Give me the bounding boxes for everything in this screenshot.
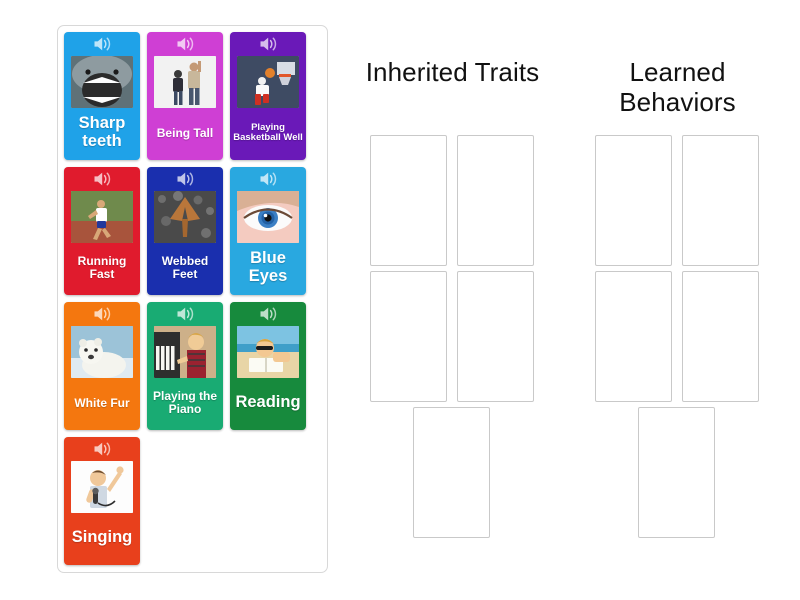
- sort-column-learned-behaviors: Learned Behaviors: [570, 25, 785, 555]
- basketball-dunk-image: [237, 56, 299, 108]
- blue-eye-closeup-image: [237, 191, 299, 243]
- speaker-icon[interactable]: [230, 32, 306, 56]
- sort-card[interactable]: White Fur: [64, 302, 140, 430]
- card-grid: Sharp teeth Being Tall: [64, 32, 322, 565]
- sort-card-label: Reading: [230, 378, 306, 430]
- drop-slot[interactable]: [638, 407, 715, 538]
- speaker-icon[interactable]: [147, 167, 223, 191]
- sort-card[interactable]: Being Tall: [147, 32, 223, 160]
- boy-reading-beach-image: [237, 326, 299, 378]
- drop-slot[interactable]: [595, 135, 672, 266]
- speaker-icon[interactable]: [147, 302, 223, 326]
- column-title-inherited-traits: Inherited Traits: [345, 25, 560, 135]
- sort-card-label: Playing the Piano: [147, 378, 223, 430]
- speaker-icon[interactable]: [64, 32, 140, 56]
- runner-on-track-image: [71, 191, 133, 243]
- sort-card-label: Being Tall: [147, 108, 223, 160]
- drop-slot[interactable]: [413, 407, 490, 538]
- sort-card-label: Sharp teeth: [64, 108, 140, 160]
- boy-with-mic-image: [71, 461, 133, 513]
- sort-columns-area: Inherited Traits Learned Behaviors: [340, 25, 790, 575]
- two-men-standing-image: [154, 56, 216, 108]
- drop-slot[interactable]: [682, 271, 759, 402]
- speaker-icon[interactable]: [147, 32, 223, 56]
- drop-slot[interactable]: [457, 271, 534, 402]
- sort-card-label: Webbed Feet: [147, 243, 223, 295]
- speaker-icon[interactable]: [230, 302, 306, 326]
- sort-card[interactable]: Sharp teeth: [64, 32, 140, 160]
- webbed-duck-foot-image: [154, 191, 216, 243]
- sort-card[interactable]: Playing the Piano: [147, 302, 223, 430]
- drop-slot[interactable]: [370, 271, 447, 402]
- speaker-icon[interactable]: [64, 437, 140, 461]
- sort-card[interactable]: Reading: [230, 302, 306, 430]
- sort-card[interactable]: Singing: [64, 437, 140, 565]
- slot-grid-inherited-traits: [345, 135, 560, 555]
- sort-card-label: Singing: [64, 513, 140, 565]
- sort-card-label: Blue Eyes: [230, 243, 306, 295]
- drop-slot[interactable]: [595, 271, 672, 402]
- column-title-learned-behaviors: Learned Behaviors: [570, 25, 785, 135]
- drop-slot[interactable]: [457, 135, 534, 266]
- slot-grid-learned-behaviors: [570, 135, 785, 555]
- speaker-icon[interactable]: [64, 302, 140, 326]
- sort-column-inherited-traits: Inherited Traits: [345, 25, 560, 555]
- shark-open-mouth-image: [71, 56, 133, 108]
- sort-card-label: Running Fast: [64, 243, 140, 295]
- sort-card[interactable]: Webbed Feet: [147, 167, 223, 295]
- word-card-tray: Sharp teeth Being Tall: [57, 25, 328, 573]
- sort-card[interactable]: Playing Basketball Well: [230, 32, 306, 160]
- activity-stage: Sharp teeth Being Tall: [0, 0, 800, 600]
- sort-card-label: White Fur: [64, 378, 140, 430]
- speaker-icon[interactable]: [230, 167, 306, 191]
- drop-slot[interactable]: [370, 135, 447, 266]
- child-at-piano-image: [154, 326, 216, 378]
- sort-card[interactable]: Blue Eyes: [230, 167, 306, 295]
- sort-card-label: Playing Basketball Well: [230, 108, 306, 160]
- speaker-icon[interactable]: [64, 167, 140, 191]
- sort-card[interactable]: Running Fast: [64, 167, 140, 295]
- polar-bear-image: [71, 326, 133, 378]
- drop-slot[interactable]: [682, 135, 759, 266]
